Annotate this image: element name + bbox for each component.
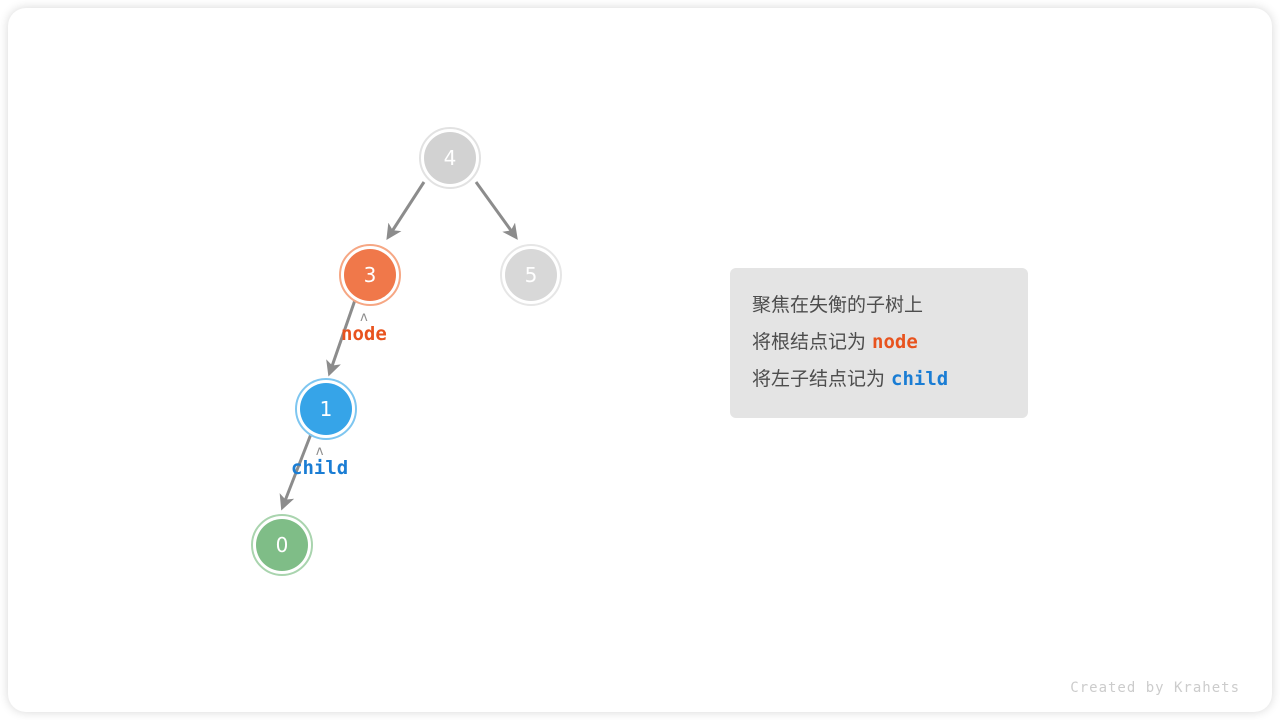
caption-line-1: 聚焦在失衡的子树上	[752, 288, 1006, 324]
caption-text: 将左子结点记为	[752, 369, 885, 390]
edge-4-3	[389, 182, 424, 236]
node-value: 1	[320, 399, 333, 419]
caption-line-2: 将根结点记为node	[752, 324, 1006, 361]
pointer-node: ʌ node	[341, 312, 387, 345]
credit-text: Created by Krahets	[1070, 680, 1240, 696]
tree-node-4[interactable]: 4	[424, 132, 476, 184]
node-value: 3	[364, 265, 377, 285]
tree-node-1[interactable]: 1	[300, 383, 352, 435]
node-value: 4	[444, 148, 457, 168]
tree-node-3[interactable]: 3	[344, 249, 396, 301]
tree-node-0[interactable]: 0	[256, 519, 308, 571]
caret-up-icon: ʌ	[291, 446, 348, 457]
caption-code-node: node	[866, 331, 918, 353]
caption-text: 将根结点记为	[752, 332, 866, 353]
caption-code-child: child	[885, 368, 948, 390]
caption-box: 聚焦在失衡的子树上 将根结点记为node 将左子结点记为child	[730, 268, 1028, 418]
tree-edges-svg	[8, 8, 1272, 712]
slide-card: 4 5 3 1 0 ʌ node ʌ child	[8, 8, 1272, 712]
diagram-canvas: 4 5 3 1 0 ʌ node ʌ child	[8, 8, 1272, 712]
node-value: 5	[525, 265, 538, 285]
tree-node-5[interactable]: 5	[505, 249, 557, 301]
pointer-node-label: node	[341, 323, 387, 345]
pointer-child: ʌ child	[291, 446, 348, 479]
pointer-child-label: child	[291, 457, 348, 479]
caption-text: 聚焦在失衡的子树上	[752, 295, 923, 316]
caret-up-icon: ʌ	[341, 312, 387, 323]
caption-line-3: 将左子结点记为child	[752, 361, 1006, 398]
node-value: 0	[276, 535, 289, 555]
edge-4-5	[476, 182, 515, 236]
